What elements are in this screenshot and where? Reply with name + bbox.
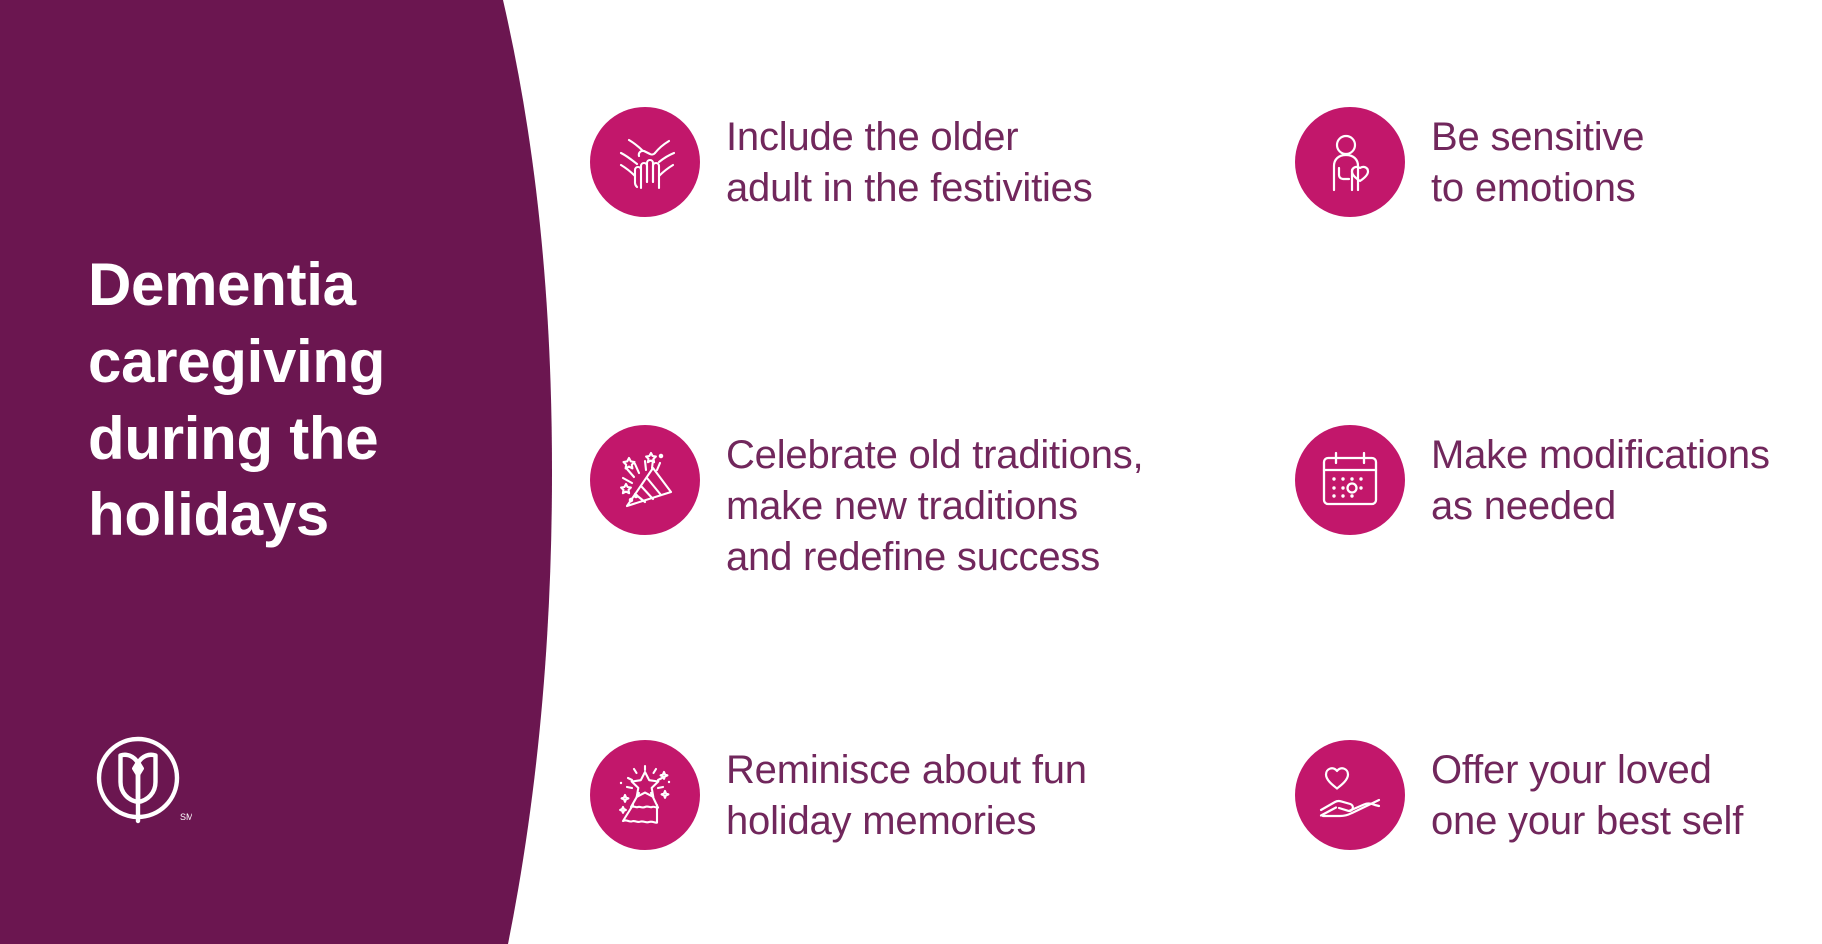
tip-celebrate-traditions: Celebrate old traditions, make new tradi… <box>590 425 1150 582</box>
tip-be-sensitive-to-emotions: Be sensitive to emotions <box>1295 107 1815 217</box>
tip-reminisce-memories: Reminisce about fun holiday memories <box>590 740 1150 850</box>
tip-line: to emotions <box>1431 163 1644 214</box>
person-hand-on-heart-icon <box>1295 107 1405 217</box>
tip-line: adult in the festivities <box>726 163 1093 214</box>
logo-trademark: SM <box>180 812 192 822</box>
tips-grid: Include the older adult in the festiviti… <box>575 0 1822 944</box>
tip-line: Include the older <box>726 112 1093 163</box>
tip-label: Reminisce about fun holiday memories <box>726 740 1087 847</box>
tip-label: Offer your loved one your best self <box>1431 740 1743 847</box>
tip-offer-best-self: Offer your loved one your best self <box>1295 740 1815 850</box>
tip-line: Offer your loved <box>1431 745 1743 796</box>
tip-line: holiday memories <box>726 796 1087 847</box>
alzheimers-association-tulip-logo: SM <box>88 730 192 834</box>
calendar-icon <box>1295 425 1405 535</box>
tip-line: Be sensitive <box>1431 112 1644 163</box>
holiday-tree-icon <box>590 740 700 850</box>
tip-line: and redefine success <box>726 532 1143 583</box>
infographic-canvas: Dementia caregiving during the holidays … <box>0 0 1822 944</box>
page-title: Dementia caregiving during the holidays <box>88 247 478 554</box>
tip-include-older-adult: Include the older adult in the festiviti… <box>590 107 1150 217</box>
tip-line: Celebrate old traditions, <box>726 430 1143 481</box>
tip-label: Celebrate old traditions, make new tradi… <box>726 425 1143 582</box>
title-line-1: Dementia <box>88 247 478 324</box>
tip-line: Reminisce about fun <box>726 745 1087 796</box>
tip-line: make new traditions <box>726 481 1143 532</box>
party-popper-icon <box>590 425 700 535</box>
title-line-3: during the <box>88 401 478 478</box>
tip-label: Be sensitive to emotions <box>1431 107 1644 214</box>
tip-label: Include the older adult in the festiviti… <box>726 107 1093 214</box>
tip-line: as needed <box>1431 481 1770 532</box>
tip-make-modifications: Make modifications as needed <box>1295 425 1815 535</box>
tip-line: one your best self <box>1431 796 1743 847</box>
joined-hands-icon <box>590 107 700 217</box>
panel-content: Dementia caregiving during the holidays … <box>0 0 470 944</box>
tip-label: Make modifications as needed <box>1431 425 1770 532</box>
title-line-4: holidays <box>88 477 478 554</box>
hand-holding-heart-icon <box>1295 740 1405 850</box>
title-line-2: caregiving <box>88 324 478 401</box>
tip-line: Make modifications <box>1431 430 1770 481</box>
